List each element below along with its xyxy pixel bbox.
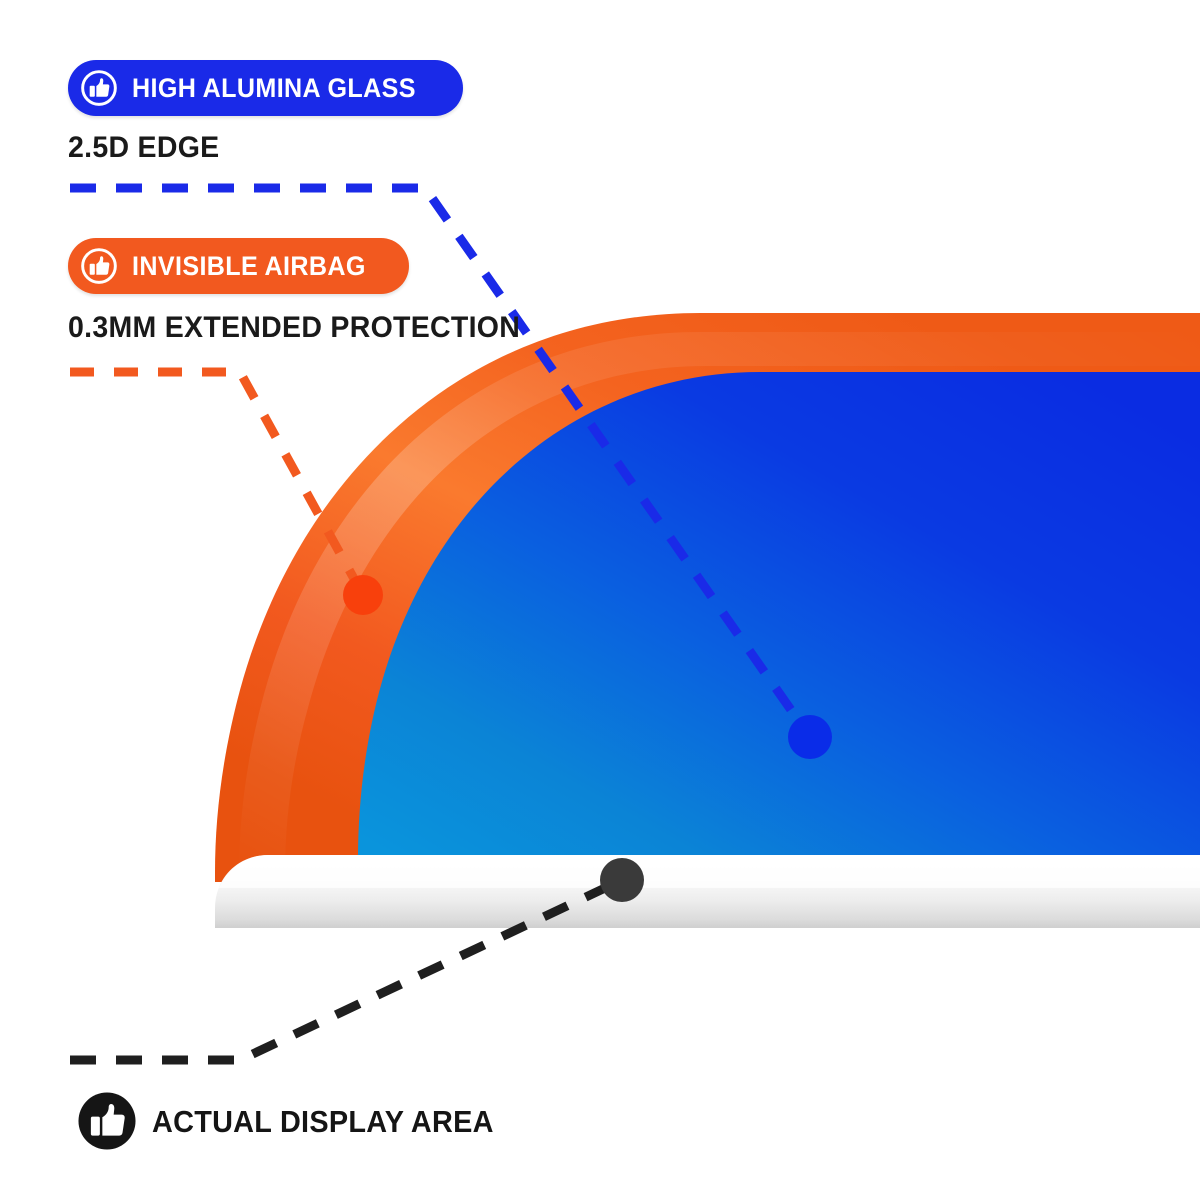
thumbs-up-icon — [80, 69, 118, 107]
legend-actual-display-area[interactable]: ACTUAL DISPLAY AREA — [76, 1090, 519, 1152]
legend-label: ACTUAL DISPLAY AREA — [152, 1106, 494, 1137]
product-illustration — [0, 0, 1200, 1200]
feature-badge-label: HIGH ALUMINA GLASS — [132, 75, 416, 102]
infographic-canvas: HIGH ALUMINA GLASS 2.5D EDGE INVISIBLE A… — [0, 0, 1200, 1200]
feature-badge-invisible-airbag[interactable]: INVISIBLE AIRBAG — [68, 238, 409, 294]
feature-badge-high-alumina-glass[interactable]: HIGH ALUMINA GLASS — [68, 60, 463, 116]
feature-badge-label: INVISIBLE AIRBAG — [132, 253, 366, 280]
thumbs-up-icon — [80, 247, 118, 285]
bottom-bezel-layer — [215, 855, 1200, 928]
feature-subtitle-2-5d-edge: 2.5D EDGE — [68, 133, 219, 163]
thumbs-up-circle-filled-icon — [76, 1090, 138, 1152]
feature-subtitle-extended-protection: 0.3MM EXTENDED PROTECTION — [68, 313, 520, 343]
